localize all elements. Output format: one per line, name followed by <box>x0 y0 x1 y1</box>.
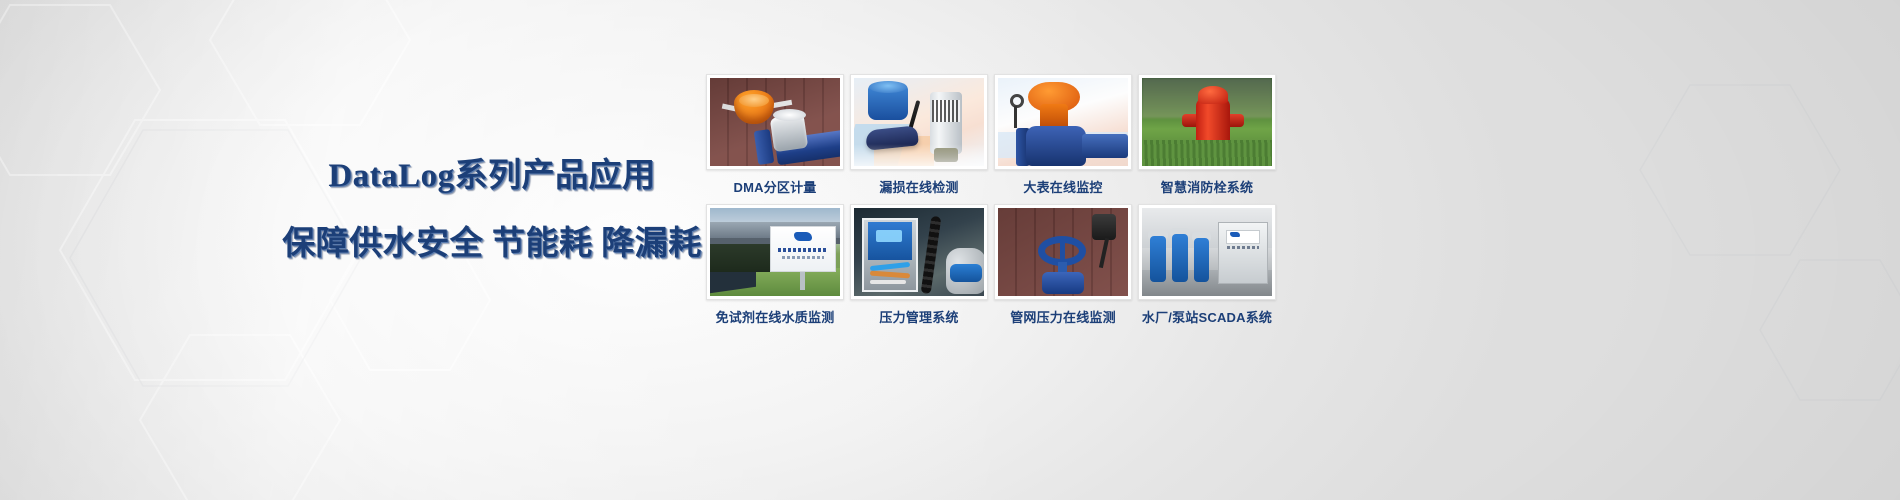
product-caption: 智慧消防栓系统 <box>1138 177 1276 196</box>
product-thumbnail[interactable] <box>706 74 844 170</box>
product-caption: DMA分区计量 <box>706 177 844 196</box>
product-card[interactable]: 水厂/泵站SCADA系统 <box>1138 204 1276 326</box>
pressure-management-system-photo <box>854 208 984 296</box>
product-thumbnail[interactable] <box>850 74 988 170</box>
product-card[interactable]: 管网压力在线监测 <box>994 204 1132 326</box>
dma-zone-metering-photo <box>710 78 840 166</box>
product-card[interactable]: 漏损在线检测 <box>850 74 988 196</box>
headline-secondary: 保障供水安全 节能耗 降漏耗 <box>282 216 702 264</box>
waterworks-pump-station-scada-photo <box>1142 208 1272 296</box>
product-card[interactable]: 智慧消防栓系统 <box>1138 74 1276 196</box>
product-caption: 免试剂在线水质监测 <box>706 307 844 326</box>
product-grid: DMA分区计量 漏损在线检测 <box>706 74 1276 326</box>
headline-primary: DataLog系列产品应用 <box>282 148 702 196</box>
product-thumbnail[interactable] <box>706 204 844 300</box>
large-meter-online-monitoring-photo <box>998 78 1128 166</box>
product-caption: 漏损在线检测 <box>850 177 988 196</box>
pipe-network-pressure-monitoring-photo <box>998 208 1128 296</box>
product-caption: 压力管理系统 <box>850 307 988 326</box>
product-thumbnail[interactable] <box>1138 74 1276 170</box>
product-caption: 大表在线监控 <box>994 177 1132 196</box>
reagent-free-water-quality-monitoring-photo <box>710 208 840 296</box>
product-caption: 管网压力在线监测 <box>994 307 1132 326</box>
headline-block: DataLog系列产品应用 保障供水安全 节能耗 降漏耗 <box>282 148 702 264</box>
product-card[interactable]: 压力管理系统 <box>850 204 988 326</box>
smart-fire-hydrant-system-photo <box>1142 78 1272 166</box>
product-thumbnail[interactable] <box>1138 204 1276 300</box>
product-thumbnail[interactable] <box>994 204 1132 300</box>
leak-online-detection-photo <box>854 78 984 166</box>
product-card[interactable]: 免试剂在线水质监测 <box>706 204 844 326</box>
product-thumbnail[interactable] <box>850 204 988 300</box>
product-caption: 水厂/泵站SCADA系统 <box>1138 307 1276 326</box>
product-card[interactable]: DMA分区计量 <box>706 74 844 196</box>
product-thumbnail[interactable] <box>994 74 1132 170</box>
promo-banner: DataLog系列产品应用 保障供水安全 节能耗 降漏耗 DMA分区计量 <box>0 0 1900 500</box>
product-card[interactable]: 大表在线监控 <box>994 74 1132 196</box>
